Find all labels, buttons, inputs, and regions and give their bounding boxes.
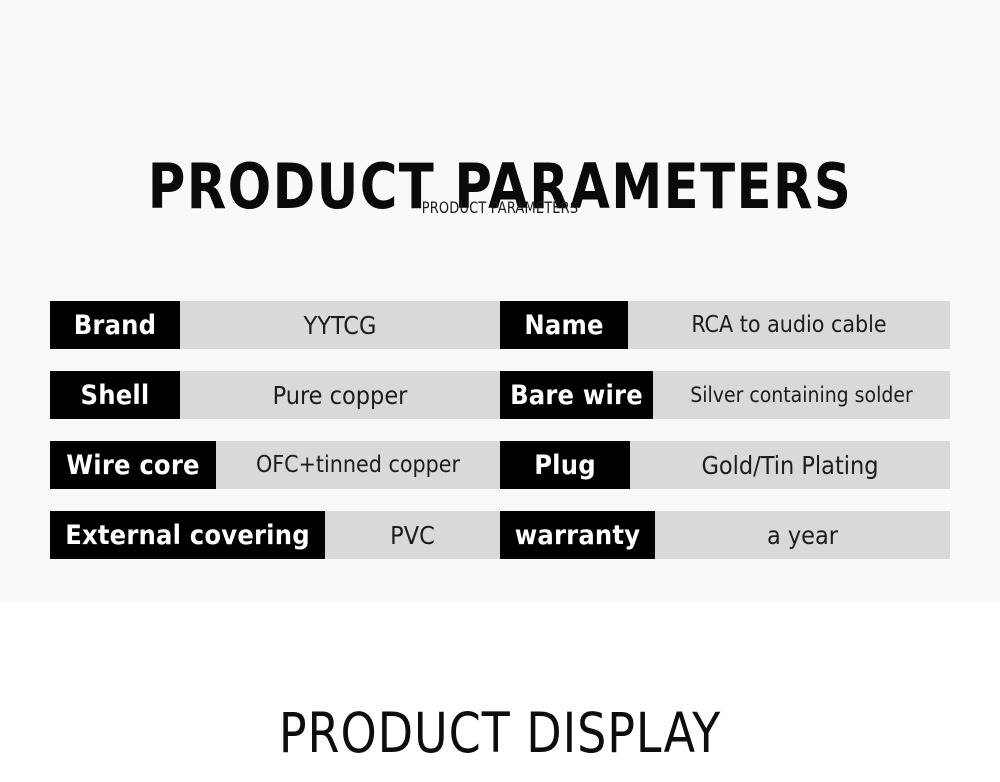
page-subtitle: PRODUCT PARAMETERS [50, 198, 950, 218]
spec-label-bare-wire: Bare wire [500, 371, 653, 419]
spec-value-brand: YYTCG [180, 301, 500, 349]
spec-cell-plug: Plug Gold/Tin Plating [500, 441, 950, 489]
table-row: Wire core OFC+tinned copper Plug Gold/Ti… [50, 441, 950, 489]
spec-label-name: Name [500, 301, 628, 349]
spec-label-external-covering: External covering [50, 511, 325, 559]
spec-cell-shell: Shell Pure copper [50, 371, 500, 419]
spec-label-brand: Brand [50, 301, 180, 349]
spec-label-shell: Shell [50, 371, 180, 419]
product-display-section: PRODUCT DISPLAY [0, 601, 1000, 782]
spec-label-warranty: warranty [500, 511, 655, 559]
table-row: Shell Pure copper Bare wire Silver conta… [50, 371, 950, 419]
spec-cell-name: Name RCA to audio cable [500, 301, 950, 349]
spec-value-wire-core: OFC+tinned copper [216, 441, 500, 489]
spec-cell-brand: Brand YYTCG [50, 301, 500, 349]
spec-label-wire-core: Wire core [50, 441, 216, 489]
product-spec-page: PRODUCT PARAMETERS PRODUCT PARAMETERS Br… [0, 0, 1000, 782]
product-parameters-section: PRODUCT PARAMETERS PRODUCT PARAMETERS Br… [0, 0, 1000, 601]
spec-value-warranty: a year [655, 511, 950, 559]
specification-table: Brand YYTCG Name RCA to audio cable Shel… [50, 301, 950, 559]
spec-cell-external-covering: External covering PVC [50, 511, 500, 559]
spec-value-external-covering: PVC [325, 511, 500, 559]
spec-cell-wire-core: Wire core OFC+tinned copper [50, 441, 500, 489]
table-row: Brand YYTCG Name RCA to audio cable [50, 301, 950, 349]
spec-value-plug: Gold/Tin Plating [630, 441, 950, 489]
spec-label-plug: Plug [500, 441, 630, 489]
spec-cell-warranty: warranty a year [500, 511, 950, 559]
spec-value-bare-wire: Silver containing solder [653, 371, 950, 419]
product-display-title: PRODUCT DISPLAY [35, 701, 965, 765]
spec-value-name: RCA to audio cable [628, 301, 950, 349]
spec-value-shell: Pure copper [180, 371, 500, 419]
spec-cell-bare-wire: Bare wire Silver containing solder [500, 371, 950, 419]
table-row: External covering PVC warranty a year [50, 511, 950, 559]
